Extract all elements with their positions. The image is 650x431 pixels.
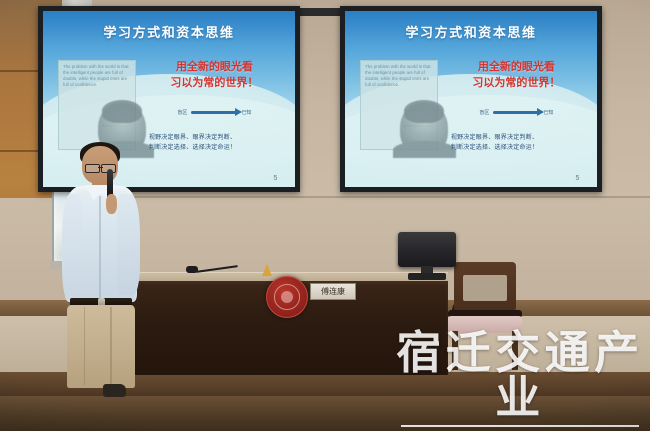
red-headline: 用全新的眼光看 习以为常的世界！: [144, 59, 285, 92]
microphone-head: [186, 266, 198, 273]
presenter-right-arm: [117, 194, 140, 295]
trouser-crease-right: [110, 307, 111, 385]
right-screen-surface: 学习方式和资本思维 The problem with the world is …: [345, 11, 597, 187]
arrow-left-label-2: 盲区: [479, 109, 489, 116]
slide-title-2: 学习方式和资本思维: [345, 22, 597, 41]
arrow-right-label: 已知: [241, 109, 251, 116]
blue-text-2-line2: 判断决定选择、选择决定命运！: [451, 144, 592, 154]
red-headline-line2: 习以为常的世界！: [144, 75, 285, 92]
slide-page-number: 5: [273, 175, 277, 182]
trouser-crease-left: [84, 307, 85, 385]
slide-title: 学习方式和资本思维: [43, 22, 295, 41]
blue-text-block-2: 视野决定眼界、眼界决定判断、 判断决定选择、选择决定命运！: [451, 134, 592, 154]
nameplate-text: 傅连康: [321, 286, 345, 297]
shirt-placket: [99, 196, 101, 302]
desktop-monitor: [398, 232, 456, 280]
presenter-hand: [106, 194, 118, 214]
presenter-shoe: [103, 384, 126, 397]
red-headline-2-line2: 习以为常的世界！: [446, 75, 587, 92]
slide-page-number-2: 5: [575, 175, 579, 182]
university-crest-emblem: [266, 276, 308, 318]
presenter-trousers: [67, 305, 134, 388]
progress-arrow: 盲区 已知: [154, 109, 275, 116]
presenter-left-arm: [62, 194, 82, 300]
quote-text-2: The problem with the world is that the i…: [365, 64, 431, 88]
speaker-nameplate: 傅连康: [310, 283, 356, 300]
arrow-right-label-2: 已知: [543, 109, 553, 116]
russell-portrait-2: [400, 103, 448, 156]
arrow-left-label: 盲区: [177, 109, 187, 116]
blue-text-line1: 视野决定眼界、眼界决定判断、: [149, 134, 290, 144]
arrow-line-icon: [191, 111, 237, 114]
progress-arrow-2: 盲区 已知: [456, 109, 577, 116]
blue-text-line2: 判断决定选择、选择决定命运！: [149, 144, 290, 154]
wooden-chair: [446, 262, 524, 370]
red-headline-2: 用全新的眼光看 习以为常的世界！: [446, 59, 587, 92]
red-headline-2-line1: 用全新的眼光看: [446, 59, 587, 76]
floor: [0, 396, 650, 431]
desk-cone-marker: [262, 264, 272, 276]
presenter: [62, 146, 140, 398]
slide-content-right: 学习方式和资本思维 The problem with the world is …: [345, 11, 597, 187]
blue-text-block: 视野决定眼界、眼界决定判断、 判断决定选择、选择决定命运！: [149, 134, 290, 154]
red-headline-line1: 用全新的眼光看: [144, 59, 285, 76]
right-projection-screen: 学习方式和资本思维 The problem with the world is …: [340, 6, 602, 192]
arrow-line-icon-2: [493, 111, 539, 114]
quote-text: The problem with the world is that the i…: [63, 64, 129, 88]
lecture-hall-photo: 学习方式和资本思维 The problem with the world is …: [0, 0, 650, 431]
blue-text-2-line1: 视野决定眼界、眼界决定判断、: [451, 134, 592, 144]
